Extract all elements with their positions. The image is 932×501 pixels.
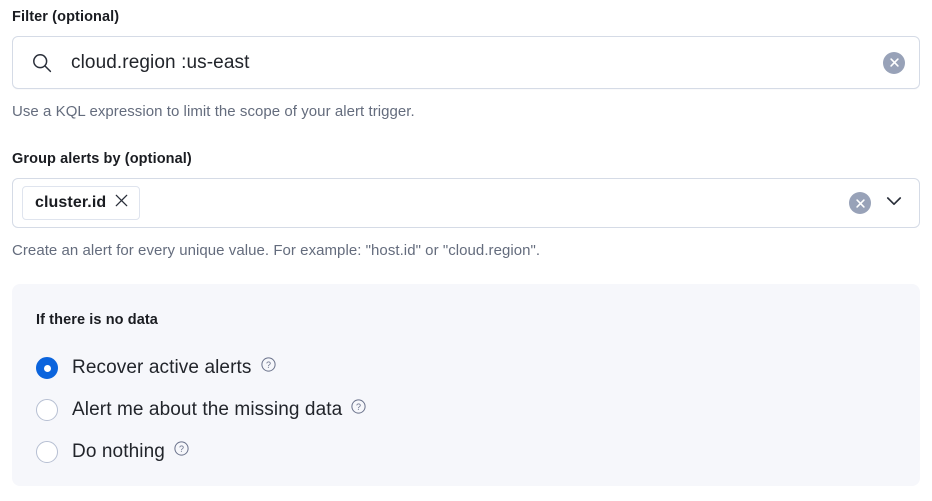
group-alerts-by-field-group: Group alerts by (optional) cluster.id bbox=[12, 149, 920, 262]
selected-fields-area: cluster.id bbox=[22, 186, 849, 220]
no-data-title: If there is no data bbox=[36, 310, 920, 330]
field-pill-label: cluster.id bbox=[35, 194, 106, 212]
radio-option-label: Do nothing bbox=[72, 441, 165, 463]
radio-mark[interactable] bbox=[36, 357, 58, 379]
group-alerts-by-help-text: Create an alert for every unique value. … bbox=[12, 240, 920, 262]
field-pill-cluster-id[interactable]: cluster.id bbox=[22, 186, 140, 220]
combobox-actions bbox=[849, 190, 907, 217]
filter-input[interactable]: cloud.region :us-east bbox=[12, 36, 920, 89]
alert-conditions-form: Filter (optional) cloud.region :us-east … bbox=[0, 0, 932, 501]
no-data-radio-group: Recover active alerts ? Alert me about t… bbox=[36, 347, 920, 473]
filter-field-group: Filter (optional) cloud.region :us-east … bbox=[12, 0, 920, 123]
filter-label: Filter (optional) bbox=[12, 7, 920, 27]
svg-text:?: ? bbox=[266, 360, 271, 370]
radio-option-do-nothing[interactable]: Do nothing ? bbox=[36, 431, 920, 473]
radio-mark[interactable] bbox=[36, 399, 58, 421]
close-icon[interactable] bbox=[115, 194, 128, 212]
filter-help-text: Use a KQL expression to limit the scope … bbox=[12, 101, 920, 123]
question-mark-icon[interactable]: ? bbox=[261, 357, 276, 377]
group-alerts-by-label: Group alerts by (optional) bbox=[12, 149, 920, 169]
radio-option-recover-active-alerts[interactable]: Recover active alerts ? bbox=[36, 347, 920, 389]
search-icon bbox=[31, 52, 53, 74]
chevron-down-icon[interactable] bbox=[883, 190, 905, 217]
svg-text:?: ? bbox=[179, 444, 184, 454]
radio-option-label: Alert me about the missing data bbox=[72, 399, 342, 421]
clear-group-by-button[interactable] bbox=[849, 192, 871, 214]
question-mark-icon[interactable]: ? bbox=[351, 399, 366, 419]
question-mark-icon[interactable]: ? bbox=[174, 441, 189, 461]
clear-filter-button[interactable] bbox=[883, 52, 905, 74]
svg-text:?: ? bbox=[356, 402, 361, 412]
filter-value-text: cloud.region :us-east bbox=[71, 52, 883, 74]
radio-option-alert-me-about-the-missing-data[interactable]: Alert me about the missing data ? bbox=[36, 389, 920, 431]
radio-option-label: Recover active alerts bbox=[72, 357, 252, 379]
no-data-panel: If there is no data Recover active alert… bbox=[12, 284, 920, 486]
group-alerts-by-combobox[interactable]: cluster.id bbox=[12, 178, 920, 228]
radio-mark[interactable] bbox=[36, 441, 58, 463]
